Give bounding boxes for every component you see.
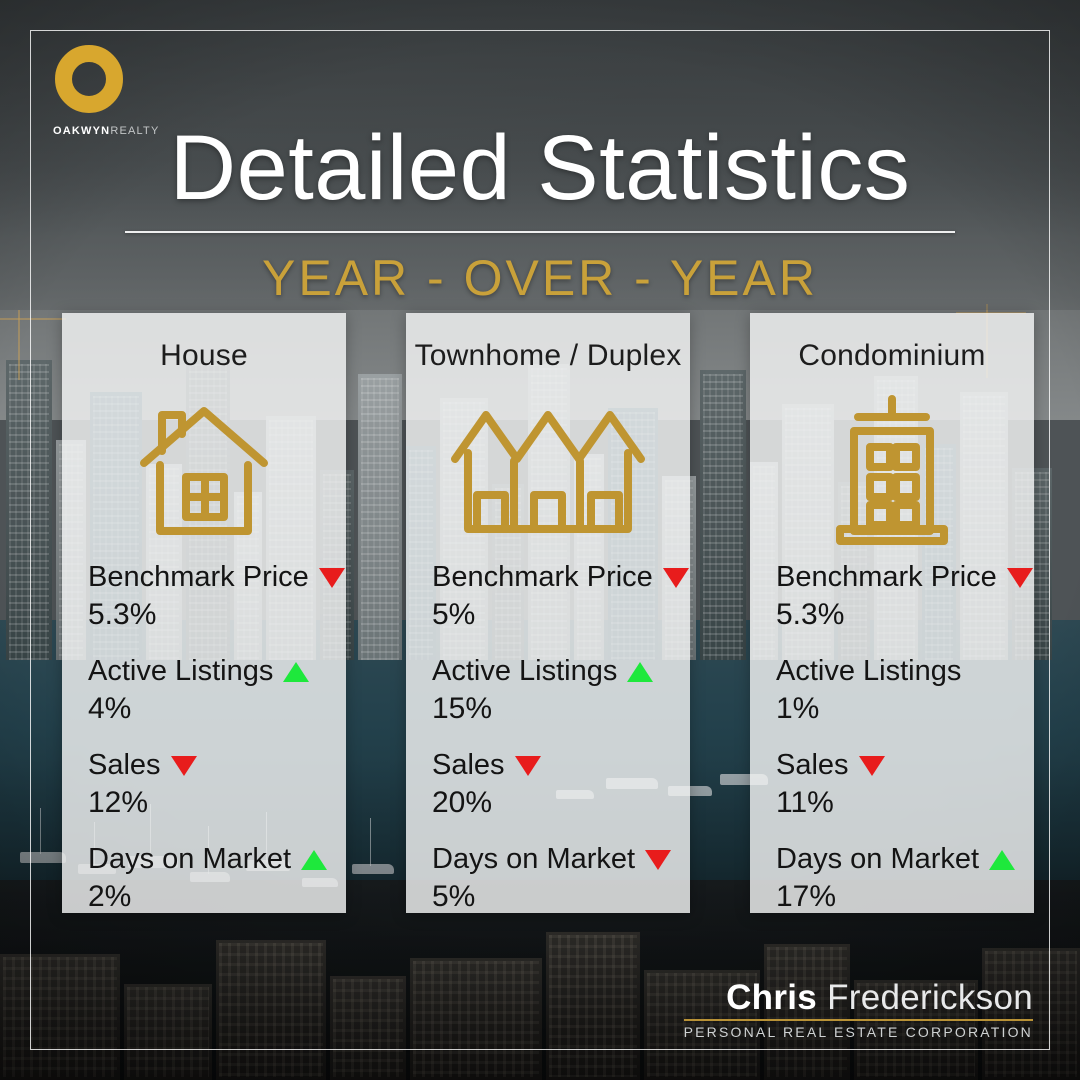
stat-value: 5% <box>432 598 690 631</box>
trend-up-icon <box>301 850 327 870</box>
trend-up-icon <box>989 850 1015 870</box>
stat-label: Active Listings <box>88 656 346 688</box>
trend-down-icon <box>171 756 197 776</box>
trend-up-icon <box>627 662 653 682</box>
stat-row: Benchmark Price 5% <box>432 562 690 631</box>
townhome-duplex-icon <box>450 377 646 562</box>
card-title: Condominium <box>798 339 985 373</box>
stat-row: Days on Market 2% <box>88 844 346 913</box>
house-icon <box>138 377 270 562</box>
stat-row: Sales 12% <box>88 750 346 819</box>
trend-down-icon <box>859 756 885 776</box>
trend-down-icon <box>645 850 671 870</box>
stat-label: Active Listings <box>776 656 1034 688</box>
stat-label: Sales <box>88 750 346 782</box>
stat-label-text: Benchmark Price <box>776 562 997 594</box>
stat-label-text: Sales <box>432 750 505 782</box>
stat-row: Days on Market 5% <box>432 844 690 913</box>
stat-value: 1% <box>776 692 1034 725</box>
stat-row: Active Listings 4% <box>88 656 346 725</box>
stat-label: Days on Market <box>432 844 690 876</box>
signature-rule <box>684 1019 1033 1021</box>
trend-down-icon <box>1007 568 1033 588</box>
stat-label: Benchmark Price <box>432 562 690 594</box>
stat-value: 11% <box>776 786 1034 819</box>
card-stats: Benchmark Price 5% Active Listings 15% S… <box>406 562 690 913</box>
stat-label-text: Benchmark Price <box>88 562 309 594</box>
stat-value: 2% <box>88 880 346 913</box>
stat-row: Active Listings 15% <box>432 656 690 725</box>
stat-label: Days on Market <box>776 844 1034 876</box>
condominium-icon <box>834 377 950 562</box>
stat-value: 17% <box>776 880 1034 913</box>
trend-down-icon <box>663 568 689 588</box>
stat-value: 15% <box>432 692 690 725</box>
stat-value: 4% <box>88 692 346 725</box>
stat-card-townhome-duplex: Townhome / Duplex Benchmark Price 5% <box>406 313 690 913</box>
trend-up-icon <box>283 662 309 682</box>
stat-value: 5.3% <box>776 598 1034 631</box>
stat-label-text: Sales <box>776 750 849 782</box>
stat-label-text: Active Listings <box>88 656 273 688</box>
stat-row: Benchmark Price 5.3% <box>88 562 346 631</box>
stat-label-text: Active Listings <box>776 656 961 688</box>
stat-row: Active Listings 1% <box>776 656 1034 725</box>
card-stats: Benchmark Price 5.3% Active Listings 4% … <box>62 562 346 913</box>
agent-first-name: Chris <box>726 978 817 1017</box>
agent-signature: Chris Frederickson PERSONAL REAL ESTATE … <box>684 978 1033 1040</box>
header-block: Detailed Statistics YEAR - OVER - YEAR <box>0 120 1080 307</box>
agent-last-name: Frederickson <box>827 978 1033 1017</box>
stat-label: Sales <box>432 750 690 782</box>
stat-value: 12% <box>88 786 346 819</box>
stat-card-house: House Benchmark Price 5.3% Active Listi <box>62 313 346 913</box>
agent-designation: PERSONAL REAL ESTATE CORPORATION <box>684 1024 1033 1040</box>
card-stats: Benchmark Price 5.3% Active Listings 1% … <box>750 562 1034 913</box>
stat-value: 20% <box>432 786 690 819</box>
stat-label-text: Sales <box>88 750 161 782</box>
stat-label-text: Days on Market <box>776 844 979 876</box>
agent-name: Chris Frederickson <box>684 978 1033 1018</box>
stat-card-condominium: Condominium Benchmark Price <box>750 313 1034 913</box>
oakwyn-ring-icon <box>55 45 123 113</box>
stat-label-text: Days on Market <box>88 844 291 876</box>
statistics-cards: House Benchmark Price 5.3% Active Listi <box>62 313 1034 913</box>
stat-label-text: Active Listings <box>432 656 617 688</box>
card-title: House <box>160 339 248 373</box>
stat-label: Benchmark Price <box>88 562 346 594</box>
stat-label: Active Listings <box>432 656 690 688</box>
page-title: Detailed Statistics <box>0 120 1080 217</box>
stat-row: Benchmark Price 5.3% <box>776 562 1034 631</box>
stat-value: 5.3% <box>88 598 346 631</box>
stat-label-text: Benchmark Price <box>432 562 653 594</box>
trend-down-icon <box>319 568 345 588</box>
stat-label: Sales <box>776 750 1034 782</box>
stat-value: 5% <box>432 880 690 913</box>
stat-label: Benchmark Price <box>776 562 1034 594</box>
stat-row: Sales 20% <box>432 750 690 819</box>
stat-row: Sales 11% <box>776 750 1034 819</box>
page-subtitle: YEAR - OVER - YEAR <box>0 249 1080 307</box>
stat-row: Days on Market 17% <box>776 844 1034 913</box>
card-title: Townhome / Duplex <box>415 339 682 373</box>
stat-label: Days on Market <box>88 844 346 876</box>
title-divider <box>125 231 955 233</box>
trend-down-icon <box>515 756 541 776</box>
stat-label-text: Days on Market <box>432 844 635 876</box>
